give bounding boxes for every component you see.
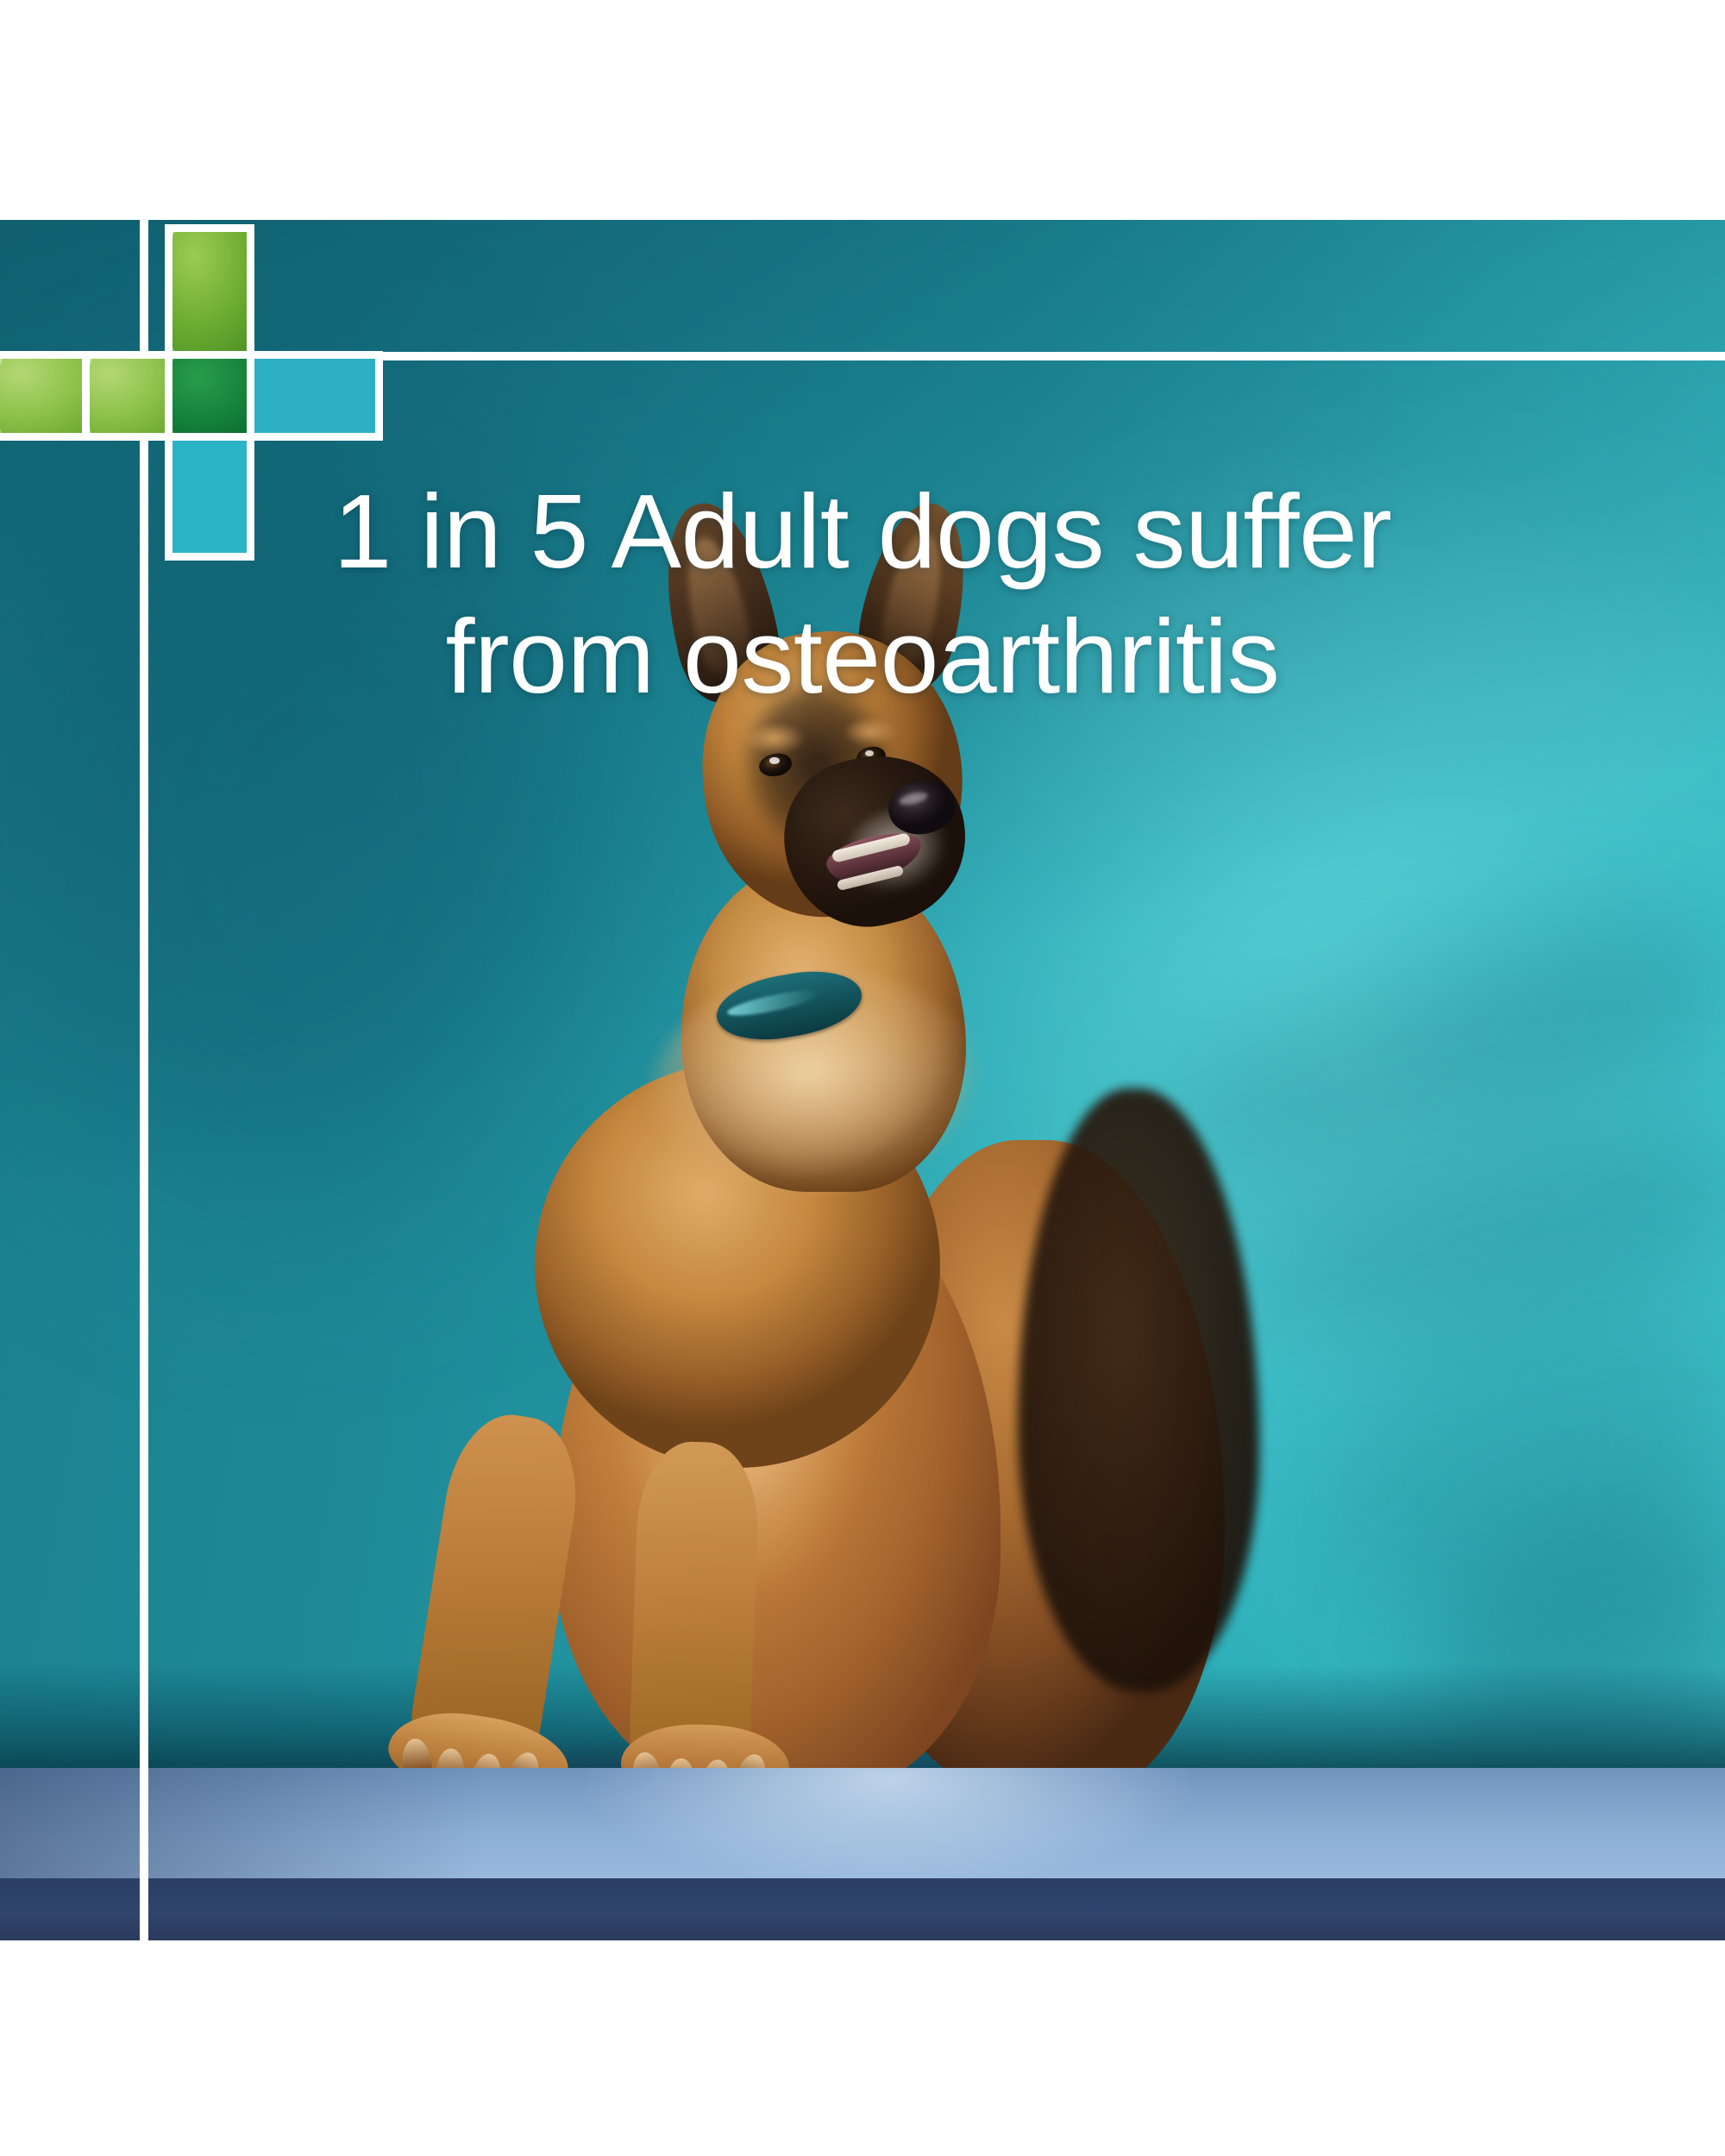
table-left-shading [0,1768,483,1878]
logo-tile-center [172,359,247,433]
wall-shadow-2 [1222,1098,1725,1369]
dog-eye-left-highlight [769,757,780,764]
german-shepherd-dog-image [483,554,1259,1796]
logo-tile-top [172,232,247,351]
dog-brow-left [746,724,808,756]
logo-tile-right [254,359,375,433]
green-cross-leaf-logo[interactable] [90,220,321,513]
wall-shadow-3 [1274,1250,1725,1683]
banner-root: 1 in 5 Adult dogs suffer from osteoarthr… [0,0,1725,2156]
table-surface [0,1768,1725,1940]
table-sheen [586,1768,1190,1878]
logo-tile-left-inner [90,359,165,433]
dog-back-saddle [1018,1088,1259,1692]
logo-tile-bottom [172,441,247,553]
logo-tile-left-outer [0,359,83,433]
table-front-edge [0,1878,1725,1940]
dog-eye-right-highlight [865,750,874,756]
dog-brow-right [845,718,900,748]
white-horizontal-rule [285,352,1725,360]
